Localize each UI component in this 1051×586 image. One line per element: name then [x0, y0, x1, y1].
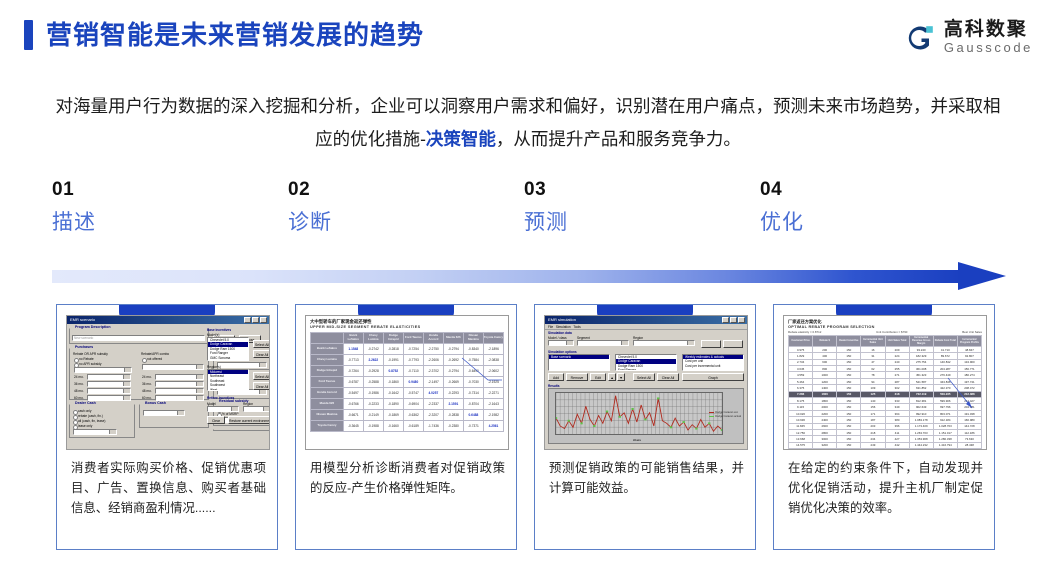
cell: -0.2742	[363, 344, 383, 355]
cell: -0.6189	[403, 421, 423, 432]
cell: -1.7436	[423, 421, 443, 432]
edit-button[interactable]: Edit	[590, 373, 606, 381]
window-titlebar: EMR simulation	[545, 316, 747, 324]
term-48-rate[interactable]	[155, 388, 204, 394]
move-up-button[interactable]: ▲	[608, 373, 616, 381]
list-item[interactable]: Ford Ranger	[616, 368, 676, 371]
stage-labels: 01 描述 02 诊断 03 预测 04 优化	[52, 178, 1004, 250]
term-60-label: 60 mo.	[74, 396, 84, 400]
arrow-shaft	[52, 270, 962, 283]
cell: -0.7264	[343, 366, 363, 377]
paragraph-part-2: ，从而提升产品和服务竞争力。	[496, 129, 741, 149]
col-header: Buick LeSabre	[343, 333, 363, 344]
cell: -0.2380	[443, 421, 463, 432]
add-button[interactable]: Add	[548, 373, 564, 381]
term-48-label-r: 48 mo.	[142, 389, 152, 393]
col-header: Customer Price	[789, 335, 813, 346]
base-incentives-title: Base incentives	[207, 328, 231, 332]
table-row: Toyota Camry -0.3645 -0.1988 -0.1660 -0.…	[311, 421, 504, 432]
cell: -22.789	[957, 449, 981, 450]
right-panel: Base incentives Model(s) Chevrolet 5.0 D…	[207, 328, 270, 438]
subsidy-label-right: Rebate/APR combo	[141, 352, 169, 356]
slide-header: 营销智能是未来营销发展的趋势 高科数聚 Gausscode	[0, 0, 1051, 72]
plot-legend: Dodge Caravan est. Dodge Caravan actual	[709, 411, 741, 419]
card-01-describe[interactable]: EMR scenario Program Description New sce…	[56, 304, 278, 550]
table-row: Mazda 626 -0.6766 -0.2233 -0.1890 -0.690…	[311, 399, 504, 410]
cell: -2.3207	[423, 410, 443, 421]
col-header: Incremental Unit Sales	[861, 335, 885, 346]
cell: -0.2928	[363, 366, 383, 377]
cell: -0.5747	[403, 388, 423, 399]
cell: 0.9480	[403, 377, 423, 388]
stage-02: 02 诊断	[288, 178, 488, 238]
regions-listbox[interactable]: Midwest Northeast Southeast Southwest We…	[207, 369, 249, 391]
cell: -0.2794	[443, 344, 463, 355]
matrix-title-en: UPPER MID-SIZE SEGMENT REBATE ELASTICITI…	[310, 325, 504, 330]
card-screenshot-elasticity-matrix: 大中型轿车的厂家现金返还弹性 UPPER MID-SIZE SEGMENT RE…	[305, 315, 509, 450]
cell: -2.1896	[483, 344, 503, 355]
window-title: EMR scenario	[70, 316, 95, 324]
list-item[interactable]: Cost per incremental unit	[683, 364, 743, 368]
corner-cell	[311, 333, 344, 344]
cell: -0.1988	[363, 421, 383, 432]
cell: -0.1991	[383, 355, 403, 366]
col-header: Toyota Camry	[483, 333, 503, 344]
clear-button[interactable]: Clear	[207, 416, 225, 424]
cell: 458	[885, 449, 909, 450]
cell: -2.1643	[483, 399, 503, 410]
cell: -2.2606	[423, 355, 443, 366]
scenarios-listbox[interactable]: Base scenario	[548, 354, 610, 371]
menu-file[interactable]: File	[548, 325, 553, 329]
best-unit-sales: Best Unit Sales	[962, 330, 982, 334]
logo-name-en: Gausscode	[944, 40, 1033, 55]
slide: 营销智能是未来营销发展的趋势 高科数聚 Gausscode 对海量用户行为数据的…	[0, 0, 1051, 586]
cell: 15.485	[789, 449, 813, 450]
results-plot: Dodge Caravan est. Dodge Caravan actual …	[548, 388, 744, 444]
simulation-data-label: Simulation data	[548, 331, 572, 335]
group-title: Purchases	[73, 345, 95, 349]
term-60-label-r: 60 mo.	[142, 396, 152, 400]
list-item[interactable]: West	[208, 388, 248, 391]
cell: 1.1548	[343, 344, 363, 355]
retiree-region-select[interactable]	[243, 406, 270, 412]
window-controls	[722, 317, 747, 323]
radio-cash-only[interactable]: cash only	[73, 409, 91, 413]
purchase-amount-input[interactable]	[74, 367, 132, 373]
cell: -0.1860	[383, 377, 403, 388]
logo-text: 高科数聚 Gausscode	[944, 20, 1033, 55]
col-header: Incremental Revenue Gross Margin	[909, 335, 933, 346]
group-title: Program Description	[73, 325, 113, 329]
term-36-input[interactable]	[87, 381, 131, 387]
term-36-label-r: 36 mo.	[142, 382, 152, 386]
remove-button[interactable]: Remove	[566, 373, 588, 381]
cell: -0.1890	[383, 399, 403, 410]
unit-contribution: Unit Contribution = $790	[876, 330, 907, 334]
term-24-label-r: 24 mo.	[142, 375, 152, 379]
term-24-input[interactable]	[87, 374, 131, 380]
subsidy-label-left: Rebate OR APR subsidy	[73, 352, 108, 356]
models-listbox[interactable]: Chevrolet 5.0 Dodge Caravan Dodge Ram 15…	[207, 337, 249, 361]
cell: -0.3645	[343, 421, 363, 432]
window-title: EMR simulation	[548, 316, 576, 324]
stage-label: 优化	[760, 208, 960, 238]
card-03-predict[interactable]: EMR simulation File Simulation Tools Sim…	[534, 304, 756, 550]
row-header: Honda Accord	[311, 388, 344, 399]
cell: -2.3702	[423, 366, 443, 377]
row-header: Toyota Camry	[311, 421, 344, 432]
select-all-models-button[interactable]: Select All	[253, 340, 270, 348]
cell: -0.7793	[403, 355, 423, 366]
row-header: Ford Taurus	[311, 377, 344, 388]
radio-rebate-cash-fin[interactable]: rebate (cash, fin.)	[73, 414, 103, 418]
dealer-cash-input[interactable]	[73, 429, 117, 435]
row-header: Chevy Lumina	[311, 355, 344, 366]
stage-03: 03 预测	[524, 178, 724, 238]
cell: -0.2149	[363, 410, 383, 421]
radio-no-rebate[interactable]: no Rebate	[74, 357, 94, 361]
menu-simulation[interactable]: Simulation	[556, 325, 571, 329]
cell: -2.2750	[423, 344, 443, 355]
intro-paragraph: 对海量用户行为数据的深入挖掘和分析，企业可以洞察用户需求和偏好，识别潜在用户痛点…	[52, 90, 1004, 156]
cell: -0.5497	[343, 388, 363, 399]
plot-area	[555, 392, 723, 435]
clear-all-button[interactable]: Clear All	[657, 373, 679, 381]
graph-button[interactable]: Graph	[682, 373, 744, 381]
col-header: Dealer Incentive	[837, 335, 861, 346]
stage-number: 04	[760, 178, 960, 202]
cell: -0.8340	[463, 344, 483, 355]
table-row: Buick LeSabre 1.1548 -0.2742 -0.2818 -0.…	[311, 344, 504, 355]
cell: -0.7254	[403, 344, 423, 355]
page-title: 营销智能是未来营销发展的趋势	[46, 20, 424, 50]
row-header: Mazda 626	[311, 399, 344, 410]
stage-number: 02	[288, 178, 488, 202]
stage-label: 诊断	[288, 208, 488, 238]
restore-environment-button[interactable]: Restore current environment	[228, 416, 270, 424]
combo-amount-input[interactable]	[142, 364, 204, 370]
cell: -0.1660	[383, 421, 403, 432]
cell: -0.2818	[383, 344, 403, 355]
col-header: Mazda 626	[443, 333, 463, 344]
title-row: 营销智能是未来营销发展的趋势	[24, 20, 424, 50]
rebate-elasticity: Rebate elasticity = 0.8712	[788, 330, 821, 334]
cell: -0.2588	[363, 377, 383, 388]
progress-arrow	[52, 262, 1012, 290]
card-caption: 预测促销政策的可能销售结果，并计算可能效益。	[549, 458, 744, 498]
cell: -0.1986	[363, 388, 383, 399]
col-header: Incremental Program Profits	[957, 335, 981, 346]
card-caption: 在给定的约束条件下，自动发现并优化促销活动，提升主机厂制定促销优化决策的效率。	[788, 458, 983, 518]
rebate-annotation-arrow	[946, 376, 980, 416]
cell: 0.8752	[383, 366, 403, 377]
col-header: Chevy Lumina	[363, 333, 383, 344]
select-all-button[interactable]: Select All	[633, 373, 655, 381]
cell: 1.534.497	[909, 449, 933, 450]
col-header: Dodge Intrepid	[383, 333, 403, 344]
clear-all-regions-button[interactable]: Clear All	[253, 382, 270, 390]
cell: 150	[837, 449, 861, 450]
table-row: 15.48534001502654581.534.4971.557.286-22…	[789, 449, 982, 450]
stage-number: 03	[524, 178, 724, 202]
stage-04: 04 优化	[760, 178, 960, 238]
cell: 2.1591	[443, 399, 463, 410]
output-options-listbox[interactable]: Weekly estimates & actuals Cost per unit…	[682, 354, 744, 371]
row-header: Nissan Maxima	[311, 410, 344, 421]
radio-all-cash-fin-lease[interactable]: all (cash, fin, lease)	[73, 419, 105, 423]
cell: 4.0257	[423, 388, 443, 399]
retiree-model-select[interactable]	[207, 406, 239, 412]
col-header: Unit Sales Total	[885, 335, 909, 346]
term-36-rate[interactable]	[155, 381, 204, 387]
cell: -0.6671	[343, 410, 363, 421]
col-header: Nissan Maxima	[463, 333, 483, 344]
radio-no-apr-subsidy[interactable]: no APR subsidy	[74, 362, 102, 366]
window-controls	[244, 317, 269, 323]
card-caption: 消费者实际购买价格、促销优惠项目、广告、置换信息、购买者基础信息、经销商盈利情况…	[71, 458, 266, 518]
cell: 3400	[813, 449, 837, 450]
title-accent-bar	[24, 20, 33, 50]
cell: -0.2233	[363, 399, 383, 410]
card-screenshot-rebate-table: 厂家返还方案优化 OPTIMAL REBATE PROGRAM SELECTIO…	[783, 315, 987, 450]
correlation-note: (Correlation = 0.98386)	[553, 448, 582, 450]
term-24-label: 24 mo.	[74, 375, 84, 379]
stage-label: 预测	[524, 208, 724, 238]
logo-name-cn: 高科数聚	[944, 20, 1033, 40]
col-header: Rebate $	[813, 335, 837, 346]
card-04-optimize[interactable]: 厂家返还方案优化 OPTIMAL REBATE PROGRAM SELECTIO…	[773, 304, 995, 550]
col-header: Ford Taurus	[403, 333, 423, 344]
retiree-incentives-title: Retiree incentives	[207, 396, 234, 400]
term-48-input[interactable]	[87, 388, 131, 394]
cell: -0.7713	[343, 355, 363, 366]
menu-tools[interactable]: Tools	[573, 325, 580, 329]
select-all-regions-button[interactable]: Select All	[253, 372, 270, 380]
cell: -0.6362	[403, 410, 423, 421]
group-title: Bonus Cash	[143, 401, 168, 405]
reset-sim-button[interactable]	[723, 340, 743, 348]
row-header: Buick LeSabre	[311, 344, 344, 355]
table-header-row: Customer PriceRebate $Dealer IncentiveIn…	[789, 335, 982, 346]
cell: -2.1497	[423, 377, 443, 388]
window-titlebar: EMR scenario	[67, 316, 269, 324]
col-header: Honda Accord	[423, 333, 443, 344]
row-header: Dodge Intrepid	[311, 366, 344, 377]
legend-entry-actual: Dodge Caravan actual	[709, 415, 741, 419]
card-row: EMR scenario Program Description New sce…	[56, 296, 996, 550]
cell: -2.1982	[483, 410, 503, 421]
run-sim-button[interactable]	[701, 340, 721, 348]
cell: -0.6787	[343, 377, 363, 388]
cell: -0.6766	[343, 399, 363, 410]
cell: -2.2337	[423, 399, 443, 410]
radio-not-offered[interactable]: not offered	[142, 357, 162, 361]
bonus-cash-input[interactable]	[143, 410, 185, 416]
cell: -0.1642	[383, 388, 403, 399]
card-caption: 用模型分析诊断消费者对促销政策的反应-产生价格弹性矩阵。	[310, 458, 505, 498]
program-description-placeholder: New scenario	[74, 336, 93, 340]
stage-label: 描述	[52, 208, 252, 238]
term-24-rate[interactable]	[155, 374, 204, 380]
cell: 4.2561	[483, 421, 503, 432]
col-header: Rebate Cost Total	[933, 335, 957, 346]
cell: -0.7110	[403, 366, 423, 377]
clear-all-models-button[interactable]: Clear All	[253, 350, 270, 358]
models-listbox[interactable]: Chevrolet 5.0 Dodge Caravan Dodge Ram 15…	[615, 354, 677, 371]
arrow-head-icon	[958, 262, 1006, 290]
cell: -0.1869	[383, 410, 403, 421]
term-36-label: 36 mo.	[74, 382, 84, 386]
paragraph-highlight: 决策智能	[426, 129, 496, 149]
segment-select[interactable]	[577, 340, 629, 346]
model-class-select[interactable]	[548, 340, 574, 346]
cell: -0.7371	[463, 421, 483, 432]
cell: -0.6904	[403, 399, 423, 410]
group-bonus-cash: Bonus Cash	[139, 404, 209, 428]
table-row: Nissan Maxima -0.6671 -0.2149 -0.1869 -0…	[311, 410, 504, 421]
stage-01: 01 描述	[52, 178, 252, 238]
table-header-row: Buick LeSabre Chevy Lumina Dodge Intrepi…	[311, 333, 504, 344]
card-02-diagnose[interactable]: 大中型轿车的厂家现金返还弹性 UPPER MID-SIZE SEGMENT RE…	[295, 304, 517, 550]
rebate-subtitle: Rebate elasticity = 0.8712 Unit Contribu…	[788, 330, 982, 334]
radio-lease-only[interactable]: lease only	[73, 424, 92, 428]
term-48-label: 48 mo.	[74, 389, 84, 393]
cell: 2.2622	[363, 355, 383, 366]
list-item[interactable]: GMC Sonoma	[208, 356, 248, 360]
brand-logo: 高科数聚 Gausscode	[903, 20, 1033, 55]
card-screenshot-windows-dialog: EMR scenario Program Description New sce…	[66, 315, 270, 450]
matrix-annotation-line	[458, 354, 504, 400]
cell: 0.6488	[463, 410, 483, 421]
move-down-button[interactable]: ▼	[617, 373, 625, 381]
group-title: Dealer Cash	[73, 401, 98, 405]
list-item[interactable]: Base scenario	[549, 355, 609, 359]
stage-number: 01	[52, 178, 252, 202]
plot-x-axis-label: Weeks	[633, 439, 641, 442]
cell: 1.557.286	[933, 449, 957, 450]
gausscode-logo-icon	[903, 21, 937, 55]
cell: 265	[861, 449, 885, 450]
region-select[interactable]	[633, 340, 695, 346]
card-screenshot-simulation-window: EMR simulation File Simulation Tools Sim…	[544, 315, 748, 450]
cell: -0.8704	[463, 399, 483, 410]
cell: -0.2838	[443, 410, 463, 421]
